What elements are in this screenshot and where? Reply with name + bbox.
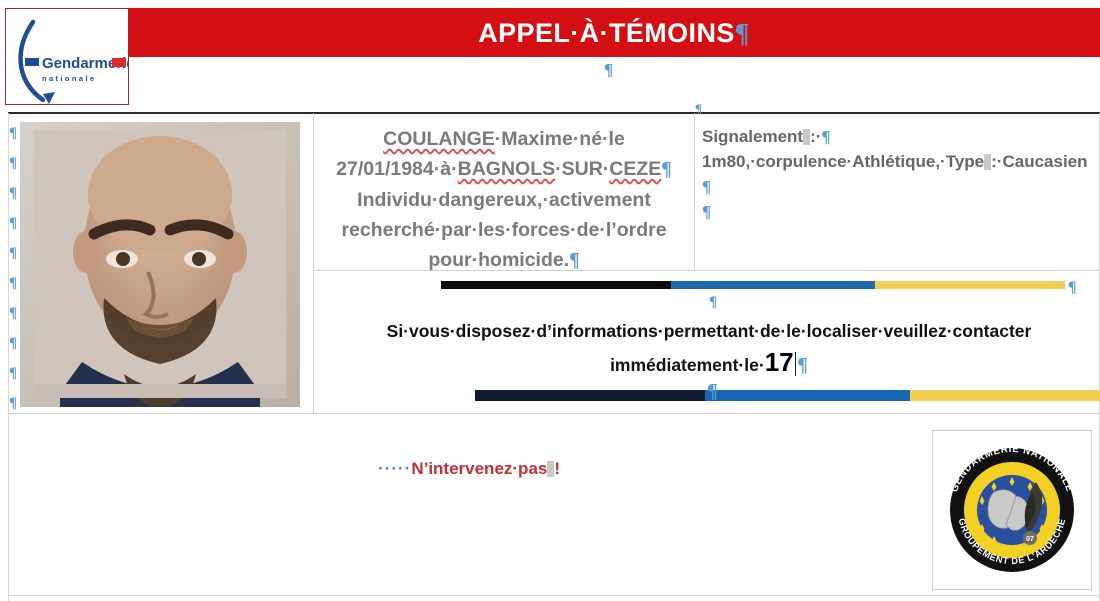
signalement-colon: :· <box>810 127 821 146</box>
birth-date: 27/01/1984 <box>336 158 434 180</box>
table-column-divider <box>313 113 314 414</box>
identity-line-5-text: pour·homicide. <box>428 249 569 271</box>
birth-city-part-1: BAGNOLS <box>458 158 556 180</box>
pilcrow-mark: ¶ <box>707 380 718 403</box>
contact-line-2-prefix: immédiatement·le· <box>610 355 765 375</box>
pilcrow-mark: ¶ <box>9 268 17 298</box>
pilcrow-mark: ¶ <box>735 18 750 49</box>
pilcrow-mark: ¶ <box>9 238 17 268</box>
suspect-photo <box>20 122 300 407</box>
identity-line-2-mid: ·à· <box>434 158 458 180</box>
table-row-divider <box>8 413 1100 414</box>
pilcrow-mark: ¶ <box>9 388 17 418</box>
pilcrow-mark: ¶ <box>9 148 17 178</box>
contact-text-block: Si·vous·disposez·d’informations·permetta… <box>318 316 1100 381</box>
identity-line-3: Individu·dangereux,·activement <box>318 185 690 215</box>
table-bottom-border <box>8 595 1100 596</box>
pilcrow-mark: ¶ <box>709 294 717 311</box>
space-dots: ····· <box>378 459 411 478</box>
tricolor-bar-blue <box>671 281 875 289</box>
tricolor-bar-black <box>475 390 705 401</box>
pilcrow-mark: ¶ <box>604 60 613 80</box>
left-margin-marks: ¶ ¶ ¶ ¶ ¶ ¶ ¶ ¶ ¶ ¶ <box>9 118 17 418</box>
tricolor-bar-blue <box>705 390 910 401</box>
signalement-label-line: Signalement:·¶ <box>702 124 1100 149</box>
contact-line-2: immédiatement·le·17¶ <box>318 347 1100 381</box>
pilcrow-mark: ¶ <box>9 358 17 388</box>
pilcrow-mark: ¶ <box>9 178 17 208</box>
pilcrow-mark: ¶ <box>9 328 17 358</box>
emergency-number: 17 <box>765 347 794 377</box>
signalement-details: 1m80,·corpulence·Athlétique,·Type:·Cauca… <box>702 149 1100 174</box>
identity-line-5: pour·homicide.¶ <box>318 245 690 276</box>
department-number: 07 <box>1026 536 1034 543</box>
pilcrow-mark: ¶ <box>9 298 17 328</box>
tricolor-bar-black <box>441 281 671 289</box>
identity-line-1: COULANGE·Maxime·né·le <box>318 124 690 154</box>
tricolor-bar-gold <box>875 281 1065 289</box>
pilcrow-mark: ¶ <box>702 199 1100 224</box>
signalement-details-pre: 1m80,·corpulence·Athlétique,·Type <box>702 152 984 171</box>
warning-text: N’intervenez·pas <box>411 459 547 478</box>
birth-city-sep: ·SUR· <box>555 158 609 180</box>
warning-line: ·····N’intervenez·pas! <box>378 459 560 479</box>
identity-text-block: COULANGE·Maxime·né·le 27/01/1984·à·BAGNO… <box>318 124 690 276</box>
signalement-block: Signalement:·¶ 1m80,·corpulence·Athlétiq… <box>702 124 1100 224</box>
text-cursor <box>795 352 797 376</box>
suspect-surname: COULANGE <box>383 128 495 150</box>
page-title: APPEL·À·TÉMOINS¶ <box>128 13 1100 53</box>
identity-line-1-rest: ·Maxime·né·le <box>495 128 625 150</box>
pilcrow-mark: ¶ <box>9 208 17 238</box>
identity-line-2: 27/01/1984·à·BAGNOLS·SUR·CEZE¶ <box>318 154 690 185</box>
pilcrow-mark: ¶ <box>695 101 702 117</box>
table-column-divider <box>694 113 695 271</box>
pilcrow-mark: ¶ <box>569 250 580 271</box>
warning-exclamation: ! <box>554 459 560 478</box>
pilcrow-mark: ¶ <box>9 118 17 148</box>
contact-line-1: Si·vous·disposez·d’informations·permetta… <box>318 316 1100 347</box>
pilcrow-mark: ¶ <box>702 174 1100 199</box>
identity-line-4: recherché·par·les·forces·de·l’ordre <box>318 215 690 245</box>
tricolor-bar-gold <box>910 390 1100 401</box>
signalement-details-post: :·Caucasien <box>991 152 1087 171</box>
table-top-border <box>8 112 1100 114</box>
pilcrow-mark: ¶ <box>661 159 672 180</box>
birth-city-part-2: CEZE <box>609 158 661 180</box>
pilcrow-mark: ¶ <box>797 354 808 376</box>
ardeche-emblem-icon: 07 GENDARMERIE NATIONALE GROUPEMENT DE L… <box>932 430 1092 590</box>
pilcrow-mark: ¶ <box>821 127 830 146</box>
pilcrow-mark: ¶ <box>1068 279 1077 297</box>
svg-text:nationale: nationale <box>42 74 97 83</box>
gendarmerie-logo-icon: Gendarmerie nationale <box>5 8 129 105</box>
page-title-text: APPEL·À·TÉMOINS <box>478 18 735 49</box>
signalement-label: Signalement <box>702 127 803 146</box>
